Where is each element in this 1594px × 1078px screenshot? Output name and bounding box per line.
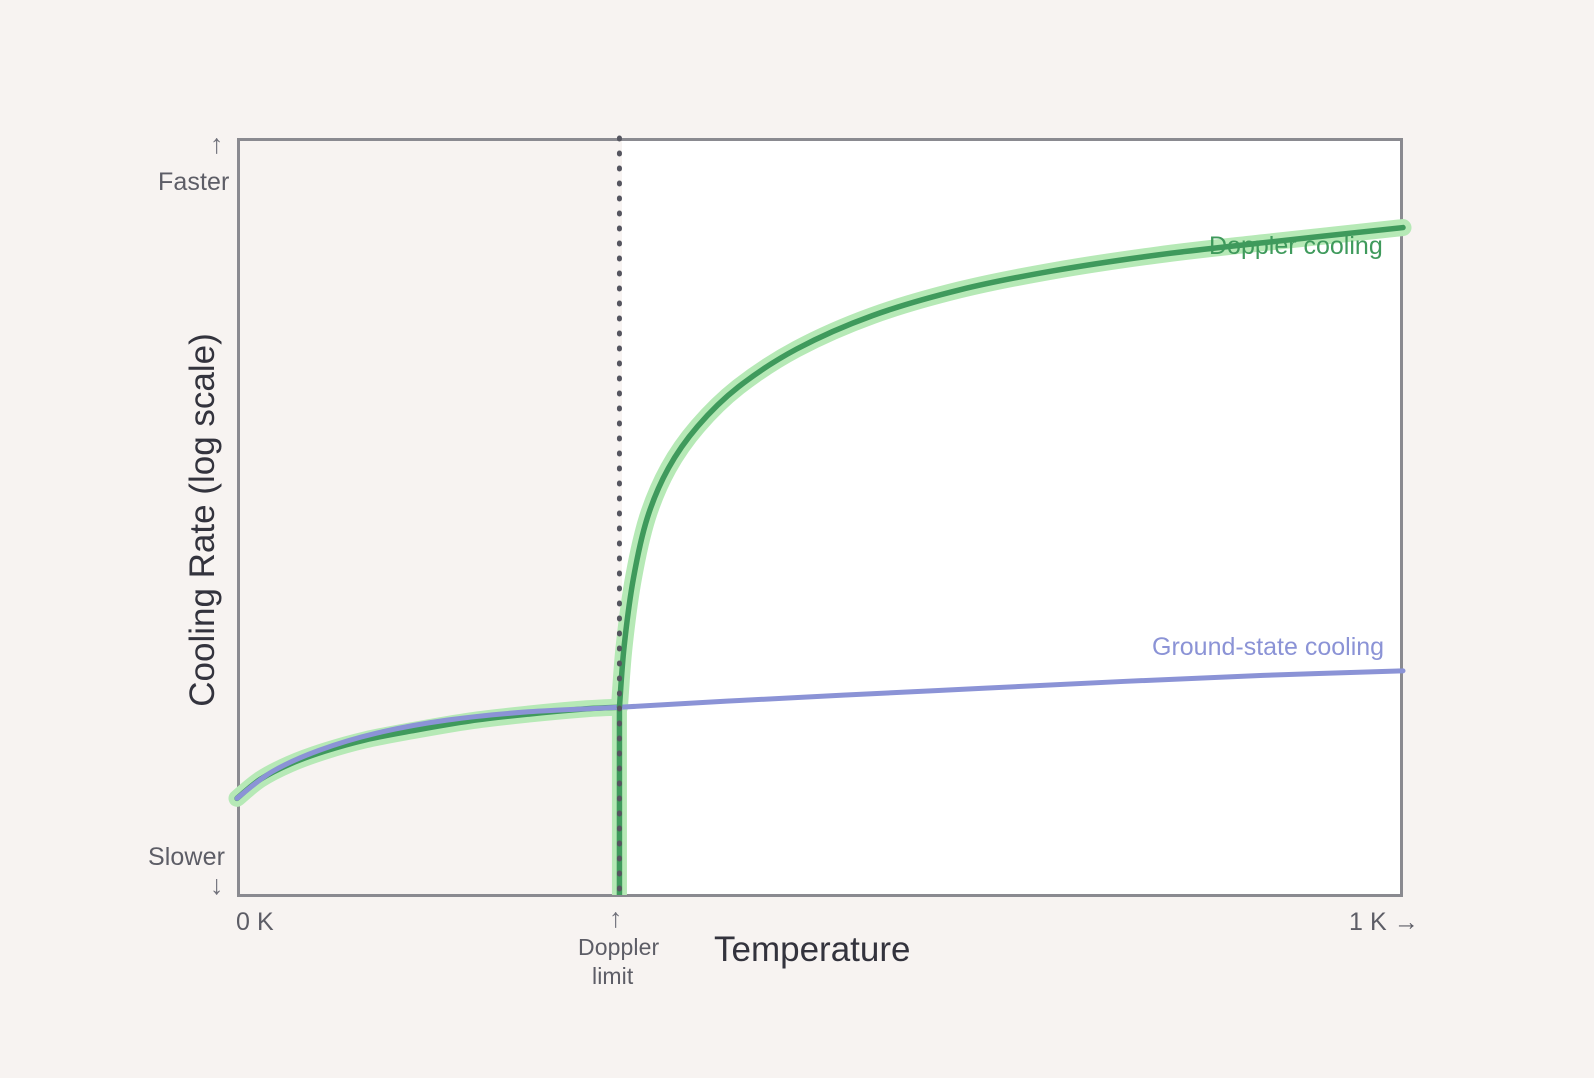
series-label-ground-state-cooling: Ground-state cooling (1152, 633, 1384, 662)
doppler-limit-label-line1: Doppler (578, 934, 659, 961)
x-axis-min-label: 0 K (236, 908, 274, 937)
y-axis-faster-label: Faster (158, 168, 229, 197)
doppler-limit-arrow-icon: ↑ (609, 905, 623, 932)
faster-arrow-icon: ↑ (210, 131, 224, 158)
y-axis-slower-label: Slower (148, 843, 225, 872)
x-axis-title: Temperature (714, 930, 910, 970)
series-label-doppler-cooling: Doppler cooling (1209, 232, 1383, 261)
chart-canvas: ↑ Faster Slower ↓ Cooling Rate (log scal… (0, 0, 1594, 1078)
doppler-limit-label-line2: limit (592, 963, 633, 990)
x-axis-max-label: 1 K → (1349, 908, 1419, 937)
y-axis-title: Cooling Rate (log scale) (183, 290, 223, 750)
slower-arrow-icon: ↓ (210, 872, 224, 899)
